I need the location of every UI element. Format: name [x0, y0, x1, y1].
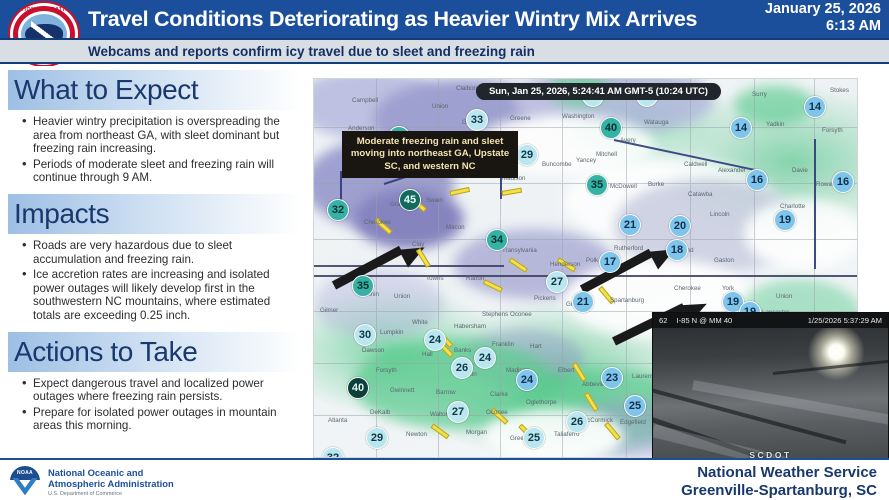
temperature-marker[interactable]: 24: [474, 347, 496, 369]
map-place-label: Oconee: [486, 409, 508, 416]
map-place-label: DeKalb: [370, 409, 390, 416]
map-place-label: Habersham: [454, 323, 486, 330]
map-place-label: Atlanta: [328, 417, 347, 424]
map-place-label: Mitchell: [596, 151, 617, 158]
map-place-label: Campbell: [352, 97, 378, 104]
map-timestamp-banner: Sun, Jan 25, 2026, 5:24:41 AM GMT-5 (10:…: [476, 83, 721, 100]
state-border-nc-sc: [314, 275, 858, 277]
map-place-label: Macon: [446, 224, 465, 231]
map-place-label: Hart: [530, 343, 542, 350]
list-item: Prepare for isolated power outages in mo…: [22, 406, 300, 433]
map-place-label: Stephens: [482, 311, 508, 318]
map-place-label: Oconee: [510, 311, 532, 318]
temperature-marker[interactable]: 30: [354, 324, 376, 346]
map-place-label: Forsyth: [376, 367, 397, 374]
map-place-label: Gilmer: [320, 307, 338, 314]
list-item: Expect dangerous travel and localized po…: [22, 377, 300, 404]
map-place-label: Burke: [648, 181, 664, 188]
map-place-label: Catawba: [688, 191, 712, 198]
map-place-label: Henderson: [550, 261, 580, 268]
temperature-marker[interactable]: 26: [451, 357, 473, 379]
webcam-image: SCDOT: [653, 328, 888, 460]
map-place-label: Swain: [426, 197, 443, 204]
map-place-label: Watauga: [644, 119, 669, 126]
subtitle-text: Webcams and reports confirm icy travel d…: [88, 44, 535, 59]
map-place-label: Oglethorpe: [526, 399, 557, 406]
left-content-panel: What to Expect Heavier wintry precipitat…: [0, 66, 308, 456]
map-place-label: Lincoln: [710, 211, 730, 218]
map-place-label: Dawson: [362, 347, 384, 354]
header-date: January 25, 2026: [741, 1, 881, 18]
temperature-marker[interactable]: 16: [832, 171, 854, 193]
map-place-label: Alexander: [718, 167, 746, 174]
map-place-label: Stokes: [830, 87, 849, 94]
map-place-label: Washington: [562, 113, 594, 120]
map-place-label: Gaston: [714, 257, 734, 264]
list-item: Periods of moderate sleet and freezing r…: [22, 158, 300, 185]
map-place-label: Yadkin: [766, 121, 784, 128]
temperature-marker[interactable]: 27: [546, 271, 568, 293]
weather-office-text: National Weather Service Greenville-Spar…: [681, 464, 877, 500]
map-place-label: Gwinnett: [390, 387, 414, 394]
map-place-label: Barrow: [436, 389, 456, 396]
map-place-label: Yancey: [576, 157, 596, 164]
section-title: Impacts: [8, 197, 109, 231]
temperature-marker[interactable]: 40: [600, 117, 622, 139]
office-line-1: National Weather Service: [681, 464, 877, 482]
temperature-marker[interactable]: 35: [586, 174, 608, 196]
map-place-label: Union: [776, 293, 792, 300]
map-place-label: Hall: [422, 351, 433, 358]
noaa-line-2: Atmospheric Administration: [48, 478, 174, 489]
map-place-label: Rutherford: [614, 245, 643, 252]
logo-text-top: NATIONAL WEATHER: [10, 7, 78, 13]
map-place-label: Davie: [792, 167, 808, 174]
map-place-label: Rabun: [466, 275, 484, 282]
temperature-marker[interactable]: 29: [366, 427, 388, 449]
section-title: What to Expect: [8, 73, 198, 107]
temperature-marker[interactable]: 40: [347, 377, 369, 399]
temperature-marker[interactable]: 14: [804, 96, 826, 118]
map-place-label: Surry: [752, 91, 767, 98]
temperature-marker[interactable]: 24: [516, 369, 538, 391]
map-place-label: Forsyth: [822, 127, 843, 134]
temperature-marker[interactable]: 26: [566, 411, 588, 433]
header-datetime: January 25, 2026 6:13 AM: [741, 1, 881, 35]
bullet-list-impacts: Roads are very hazardous due to sleet ac…: [8, 239, 302, 323]
map-place-label: Buncombe: [542, 161, 572, 168]
noaa-line-3: U.S. Department of Commerce: [48, 491, 174, 497]
bullet-list-what-to-expect: Heavier wintry precipitation is overspre…: [8, 115, 302, 185]
bullet-list-actions-to-take: Expect dangerous travel and localized po…: [8, 377, 302, 433]
webcam-inset[interactable]: 62 I-85 N @ MM 40 1/25/2026 5:37:29 AM S…: [652, 312, 889, 460]
map-place-label: Newton: [406, 431, 427, 438]
map-place-label: Avery: [620, 137, 636, 144]
map-place-label: Franklin: [492, 341, 514, 348]
temperature-marker[interactable]: 33: [466, 109, 488, 131]
map-place-label: Cherokee: [674, 285, 701, 292]
map-place-label: Towns: [426, 275, 444, 282]
office-line-2: Greenville-Spartanburg, SC: [681, 482, 877, 500]
river-line: [814, 139, 816, 269]
map-place-label: Lumpkin: [380, 329, 403, 336]
map-place-label: Greene: [510, 115, 531, 122]
map-place-label: Clay: [412, 241, 424, 248]
noaa-logo-top: NOAA: [10, 466, 40, 480]
temperature-marker[interactable]: 18: [666, 239, 688, 261]
temperature-marker[interactable]: 34: [486, 229, 508, 251]
map-place-label: Union: [432, 103, 448, 110]
noaa-logo-word: NOAA: [17, 470, 33, 476]
map-place-label: Elbert: [558, 367, 574, 374]
map-annotation-callout: Moderate freezing rain and sleet moving …: [342, 131, 518, 178]
list-item: Ice accretion rates are increasing and i…: [22, 268, 300, 322]
map-place-label: McDowell: [610, 183, 637, 190]
map-place-label: Pickens: [534, 295, 556, 302]
list-item: Heavier wintry precipitation is overspre…: [22, 115, 300, 156]
noaa-agency-text: National Oceanic and Atmospheric Adminis…: [48, 467, 174, 497]
map-place-label: Cherokee: [364, 219, 391, 226]
temperature-marker[interactable]: 45: [399, 189, 421, 211]
section-header-impacts: Impacts: [8, 194, 302, 234]
briefing-page: NATIONAL WEATHER SERVICE Travel Conditio…: [0, 0, 889, 500]
map-place-label: Union: [394, 293, 410, 300]
page-title: Travel Conditions Deteriorating as Heavi…: [88, 3, 738, 35]
map-place-label: Polk: [586, 257, 598, 264]
temperature-marker[interactable]: 25: [523, 427, 545, 449]
temperature-marker[interactable]: 20: [669, 215, 691, 237]
section-title: Actions to Take: [8, 335, 197, 369]
temperature-marker[interactable]: 14: [730, 117, 752, 139]
webcam-timestamp: 1/25/2026 5:37:29 AM: [808, 316, 882, 325]
noaa-line-1: National Oceanic and: [48, 467, 174, 478]
map-place-label: Spartanburg: [610, 297, 644, 304]
map-place-label: Clarke: [490, 391, 508, 398]
list-item: Roads are very hazardous due to sleet ac…: [22, 239, 300, 266]
noaa-bird-glyph: [12, 478, 37, 495]
temperature-marker[interactable]: 29: [516, 144, 538, 166]
map-place-label: Edgefield: [620, 419, 646, 426]
webcam-header: 62 I-85 N @ MM 40 1/25/2026 5:37:29 AM: [653, 313, 888, 328]
temperature-marker[interactable]: 32: [327, 199, 349, 221]
temperature-marker[interactable]: 24: [424, 329, 446, 351]
temperature-marker[interactable]: 35: [352, 275, 374, 297]
map-place-label: Caldwell: [684, 161, 707, 168]
map-place-label: Transylvania: [502, 247, 537, 254]
webcam-location: I-85 N @ MM 40: [676, 316, 732, 325]
temperature-marker[interactable]: 17: [599, 251, 621, 273]
temperature-marker[interactable]: 27: [447, 401, 469, 423]
header-time: 6:13 AM: [741, 18, 881, 35]
footer-bar: NOAA National Oceanic and Atmospheric Ad…: [0, 458, 889, 500]
temperature-marker[interactable]: 19: [774, 209, 796, 231]
map-place-label: Banks: [454, 347, 471, 354]
temperature-marker[interactable]: 23: [601, 367, 623, 389]
map-place-label: Morgan: [466, 429, 487, 436]
subtitle-bar: Webcams and reports confirm icy travel d…: [0, 38, 889, 64]
noaa-logo-icon: NOAA: [10, 466, 40, 496]
temperature-marker[interactable]: 25: [624, 395, 646, 417]
section-header-what-to-expect: What to Expect: [8, 70, 302, 110]
section-header-actions-to-take: Actions to Take: [8, 332, 302, 372]
map-place-label: White: [412, 319, 428, 326]
temperature-marker[interactable]: 21: [572, 291, 594, 313]
temperature-marker[interactable]: 16: [746, 169, 768, 191]
webcam-camera-id: 62: [659, 316, 667, 325]
temperature-marker[interactable]: 21: [619, 214, 641, 236]
